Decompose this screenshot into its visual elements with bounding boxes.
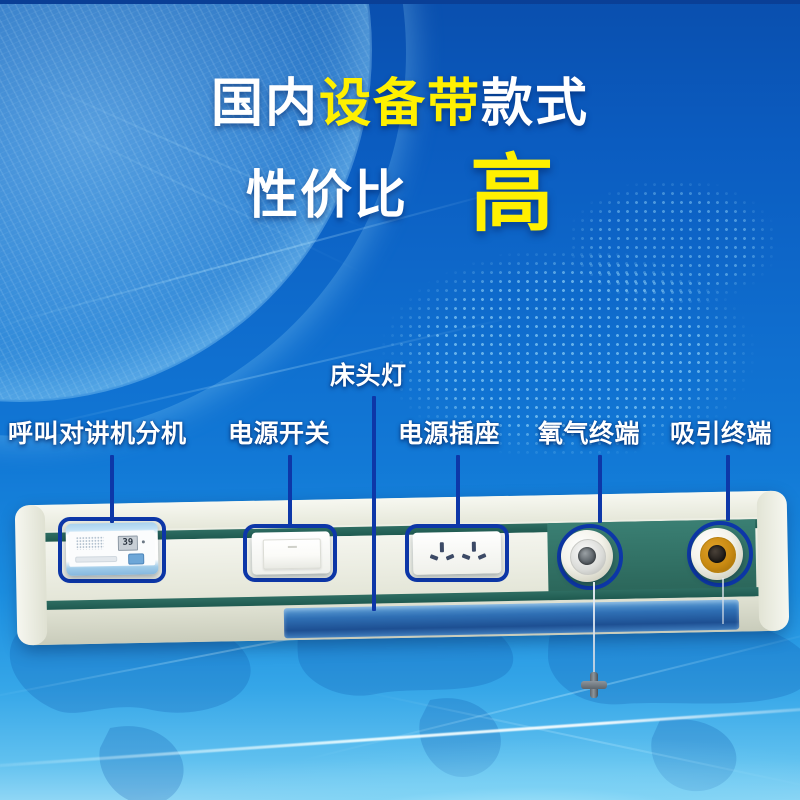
label-bedside-lamp: 床头灯 xyxy=(330,356,407,392)
callout-labels: 床头灯 呼叫对讲机分机 电源开关 电源插座 氧气终端 吸引终端 xyxy=(0,0,800,800)
label-suction-terminal: 吸引终端 xyxy=(670,414,772,450)
label-intercom: 呼叫对讲机分机 xyxy=(8,414,187,450)
label-oxygen-terminal: 氧气终端 xyxy=(538,414,640,450)
label-power-socket: 电源插座 xyxy=(398,414,500,450)
label-power-switch: 电源开关 xyxy=(228,414,330,450)
promo-poster: 国内设备带款式 性价比高 床头灯 呼叫对讲机分机 电源开关 电源插座 氧气终端 … xyxy=(0,0,800,800)
